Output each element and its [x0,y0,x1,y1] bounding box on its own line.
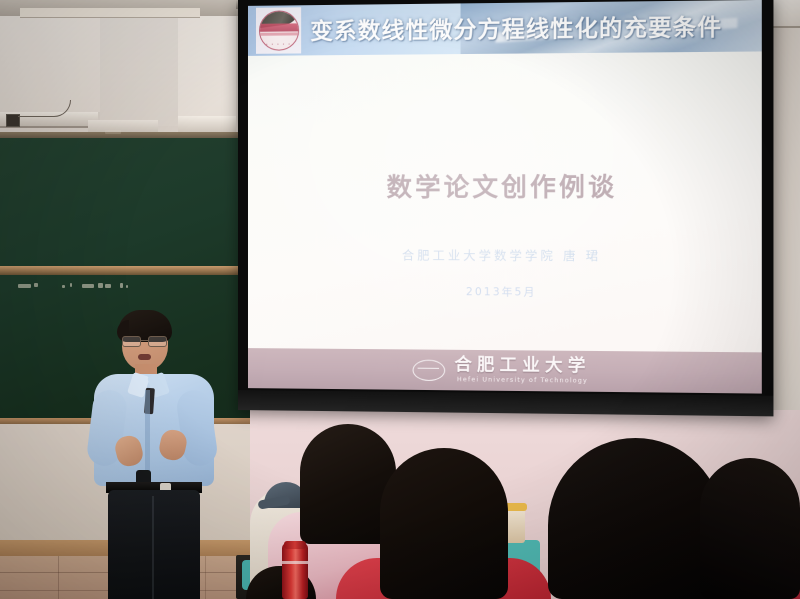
wall-panel-middle [100,16,178,126]
wall-ledge-right [178,116,236,132]
chalk-mark [98,283,103,288]
footer-name-cn: 合肥工业大学 [454,357,590,376]
chalk-mark [120,283,123,288]
hfut-oval-logo-icon [413,359,446,381]
student-silhouette-right [700,458,800,599]
paper-cup [505,509,525,543]
thermos-cap [284,541,306,549]
slide-header-title: 变系数线性微分方程线性化的充要条件 [310,0,722,55]
slide-main-title: 数学论文创作例谈 [248,167,762,204]
chalk-mark [105,130,121,134]
speaker-mouth [138,354,151,360]
chalk-mark [18,284,31,288]
wall-panel-left [0,12,100,112]
footer-name-en: Hefei University of Technology [457,377,588,385]
trouser-crease [152,496,154,599]
university-seal-icon: • • • • • [256,7,301,54]
red-thermos-bottle [282,543,308,599]
wall-panel-right [178,10,236,130]
chalk-mark [62,285,65,288]
slide-footer-band: 合肥工业大学 Hefei University of Technology [248,348,762,393]
footer-university-name: 合肥工业大学 Hefei University of Technology [454,357,590,385]
chalk-mark [34,283,38,287]
slide-date-line: 2013年5月 [248,283,762,301]
slide-author-line: 合肥工业大学数学学院 唐 珺 [248,246,762,265]
student-head-center [380,448,508,599]
projection-screen-surface: • • • • • 变系数线性微分方程线性化的充要条件 数学论文创作例谈 合肥工… [248,0,762,394]
chalk-mark [82,284,94,288]
chalk-mark [70,283,72,287]
projection-screen: • • • • • 变系数线性微分方程线性化的充要条件 数学论文创作例谈 合肥工… [238,0,773,416]
chalk-mark [105,284,111,288]
slide-body: 数学论文创作例谈 合肥工业大学数学学院 唐 珺 2013年5月 [248,51,762,352]
slide-header-band: • • • • • 变系数线性微分方程线性化的充要条件 [248,0,762,56]
lecture-hall-scene: MITSUBISHI • • • • • 变系数线性微分方程线 [0,0,800,599]
speaker-trousers [108,490,200,599]
seal-band-secondary [258,32,298,35]
speaker-shirt-placket [145,390,150,482]
student-silhouette-center [548,438,723,599]
thermos-ring [282,561,308,564]
chalk-mark [126,285,128,288]
blackboard-chalk-rail [0,266,250,275]
presentation-slide: • • • • • 变系数线性微分方程线性化的充要条件 数学论文创作例谈 合肥工… [248,0,762,394]
floor-grout-line [58,556,59,599]
ceiling-light-housing [20,8,200,18]
seal-band [258,23,298,31]
speaker-figure [88,310,218,599]
glasses-icon [121,336,169,345]
seal-micro-text: • • • • • [259,42,297,46]
seal-circle: • • • • • [258,10,298,51]
